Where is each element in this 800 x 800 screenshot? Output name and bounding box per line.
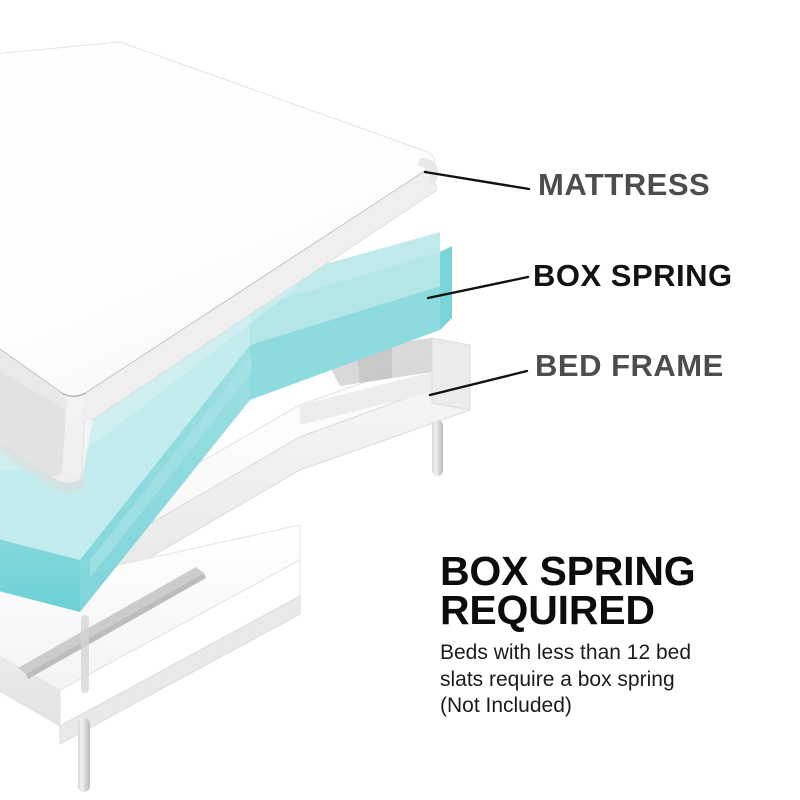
notice-body-line3: (Not Included) <box>440 693 770 720</box>
notice-body: Beds with less than 12 bed slats require… <box>440 640 770 721</box>
leader-line-mattress <box>425 172 529 189</box>
callout-label-bed-frame: BED FRAME <box>535 348 724 384</box>
box-spring-required-notice: BOX SPRING REQUIRED Beds with less than … <box>440 552 770 720</box>
product-infographic: MATTRESS BOX SPRING BED FRAME BOX SPRING… <box>0 0 800 800</box>
bed-frame-leg-right <box>432 420 443 476</box>
notice-body-line2: slats require a box spring <box>440 667 770 694</box>
notice-heading-line2: REQUIRED <box>440 587 655 633</box>
bed-frame-right-end <box>432 338 470 410</box>
notice-body-line1: Beds with less than 12 bed <box>440 640 770 667</box>
bed-frame-leg-front <box>78 718 90 792</box>
callout-label-mattress: MATTRESS <box>538 167 710 203</box>
callout-label-box-spring: BOX SPRING <box>533 258 733 294</box>
notice-heading: BOX SPRING REQUIRED <box>440 552 770 631</box>
bed-frame-corner-post <box>81 615 89 693</box>
